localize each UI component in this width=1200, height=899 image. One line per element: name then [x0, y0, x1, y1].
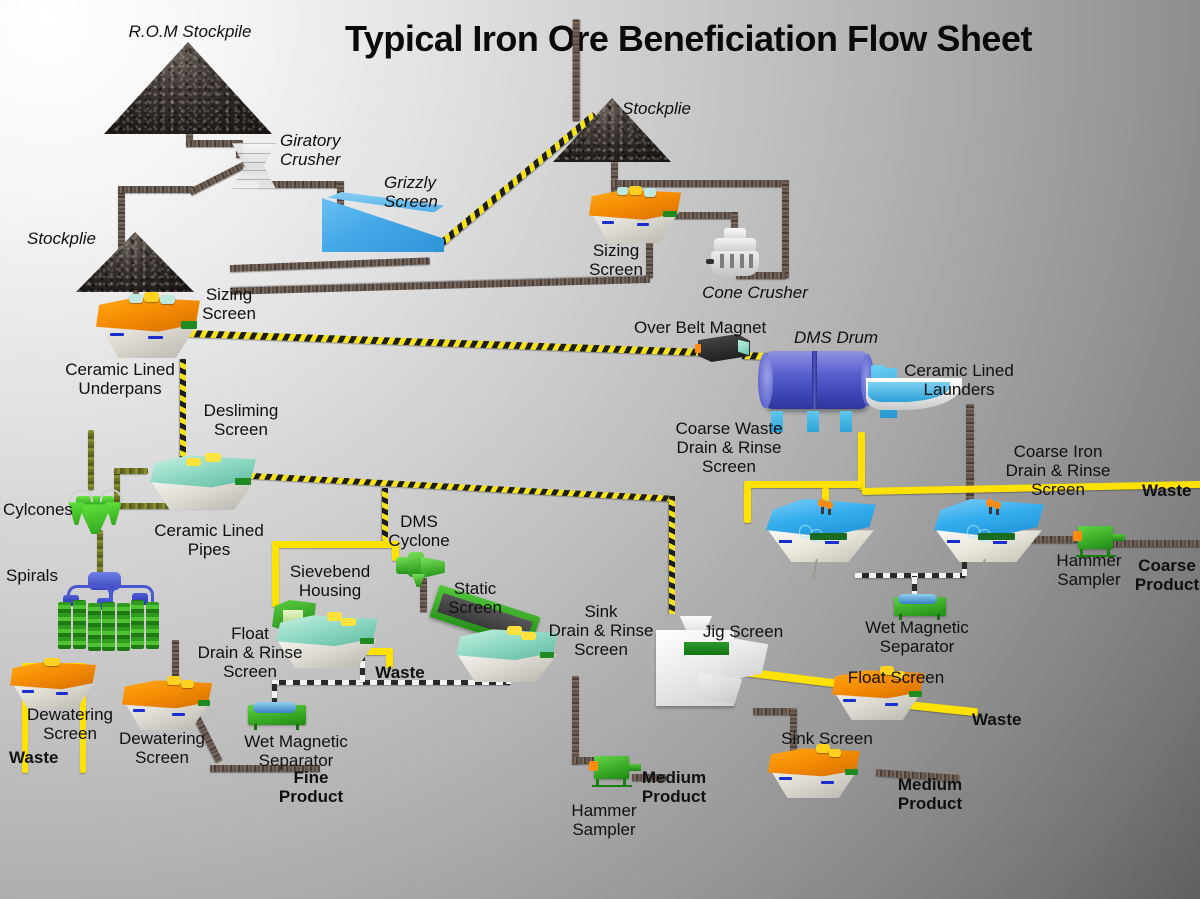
label-desliming-screen: Desliming Screen	[204, 401, 279, 439]
yellow-pipe-sievebend-top	[272, 541, 398, 548]
label-medium-product-right: Medium Product	[898, 775, 962, 813]
label-coarse-product: Coarse Product	[1135, 556, 1199, 594]
label-jig-screen: Jig Screen	[703, 622, 783, 641]
label-coarse-waste-screen: Coarse Waste Drain & Rinse Screen	[675, 419, 782, 476]
label-hammer-sampler-right: Hammer Sampler	[1056, 551, 1121, 589]
label-stockpile-left: Stockplie	[27, 229, 96, 248]
yellow-pipe-sievebend-drop	[272, 541, 279, 607]
label-medium-product-center: Medium Product	[642, 768, 706, 806]
label-grizzly-screen: Grizzly Screen	[384, 173, 438, 211]
label-float-screen: Float Screen	[848, 668, 944, 687]
label-ceramic-lined-launders: Ceramic Lined Launders	[904, 361, 1014, 399]
label-coarse-iron-screen: Coarse Iron Drain & Rinse Screen	[1006, 442, 1111, 499]
over-belt-magnet-graphic	[698, 334, 750, 362]
label-dms-cyclone: DMS Cyclone	[388, 512, 449, 550]
label-wet-magnetic-separator-right: Wet Magnetic Separator	[865, 618, 969, 656]
wet-magnetic-separator-right-graphic	[894, 592, 946, 620]
label-dms-drum: DMS Drum	[794, 328, 878, 347]
label-cone-crusher: Cone Crusher	[702, 283, 808, 302]
label-ceramic-lined-underpans: Ceramic Lined Underpans	[65, 360, 175, 398]
spirals-graphic	[54, 572, 166, 654]
label-over-belt-magnet: Over Belt Magnet	[634, 318, 766, 337]
pipe-return-to-left-long	[230, 276, 650, 295]
page-title: Typical Iron Ore Beneficiation Flow Shee…	[345, 18, 1032, 60]
pipe-sink-screen-discharge	[572, 676, 579, 764]
label-fine-product: Fine Product	[279, 768, 343, 806]
sizing-screen-left-graphic	[96, 292, 200, 358]
label-waste-left: Waste	[9, 748, 58, 767]
dashed-pipe-right-wms-run	[855, 573, 965, 578]
conveyor-desliming-overflow-right	[234, 472, 674, 502]
ceramic-pipe-cyclone-feed	[88, 430, 94, 490]
pipe-left-top-elbow	[118, 186, 194, 193]
pipe-sizing-top-to-cone	[672, 212, 738, 219]
label-static-screen: Static Screen	[448, 579, 502, 617]
rom-stockpile-graphic	[104, 42, 272, 134]
label-sizing-screen-left: Sizing Screen	[202, 285, 256, 323]
label-ceramic-lined-pipes: Ceramic Lined Pipes	[154, 521, 264, 559]
label-sievebend-housing: Sievebend Housing	[290, 562, 370, 600]
pipe-to-cone-crusher-right-riser	[782, 180, 789, 278]
dms-drum-graphic	[762, 344, 880, 430]
label-hammer-sampler-center: Hammer Sampler	[571, 801, 636, 839]
label-stockpile-top: Stockplie	[622, 99, 691, 118]
sink-drain-rinse-screen-graphic	[456, 626, 558, 682]
flow-sheet-diagram: Typical Iron Ore Beneficiation Flow Shee…	[0, 0, 1200, 899]
conveyor-long-right-to-jig	[669, 496, 675, 614]
label-giratory-crusher: Giratory Crusher	[280, 131, 340, 169]
label-dewatering-screen-left: Dewatering Screen	[27, 705, 113, 743]
label-wet-magnetic-separator-left: Wet Magnetic Separator	[244, 732, 348, 770]
conveyor-desliming-branch-down	[382, 488, 388, 546]
yellow-pipe-coarse-waste-loop-top	[744, 481, 862, 488]
pipe-sizing-top-underflow	[646, 240, 653, 278]
label-waste-center: Waste	[375, 663, 424, 682]
desliming-screen-graphic	[150, 452, 256, 510]
label-sink-drain-rinse-screen: Sink Drain & Rinse Screen	[549, 602, 654, 659]
dms-cyclone-graphic	[396, 548, 448, 588]
coarse-iron-drain-rinse-screen-graphic	[934, 496, 1044, 562]
pipe-return-to-left-upper	[230, 257, 430, 272]
sink-screen-graphic	[768, 744, 860, 798]
ceramic-pipe-left-top	[114, 468, 148, 474]
label-float-drain-rinse-screen: Float Drain & Rinse Screen	[198, 624, 303, 681]
label-rom-stockpile: R.O.M Stockpile	[129, 22, 252, 41]
label-dewatering-screen-mid: Dewatering Screen	[119, 729, 205, 767]
label-sink-screen: Sink Screen	[781, 729, 873, 748]
cone-crusher-graphic	[710, 228, 760, 280]
cyclones-graphic	[66, 488, 124, 536]
label-cyclones: Cylcones	[3, 500, 73, 519]
label-spirals: Spirals	[6, 566, 58, 585]
dewatering-screen-left-graphic	[10, 658, 96, 710]
hammer-sampler-center-graphic	[586, 752, 642, 788]
coarse-waste-drain-rinse-screen-graphic	[766, 496, 876, 562]
label-sizing-screen-top: Sizing Screen	[589, 241, 643, 279]
sizing-screen-top-graphic	[589, 185, 681, 243]
label-waste-far-right: Waste	[972, 710, 1021, 729]
dewatering-screen-mid-graphic	[122, 676, 212, 730]
label-waste-right: Waste	[1142, 481, 1191, 500]
yellow-pipe-coarse-waste-loop-drop	[744, 481, 751, 523]
wet-magnetic-separator-left-graphic	[248, 700, 306, 730]
